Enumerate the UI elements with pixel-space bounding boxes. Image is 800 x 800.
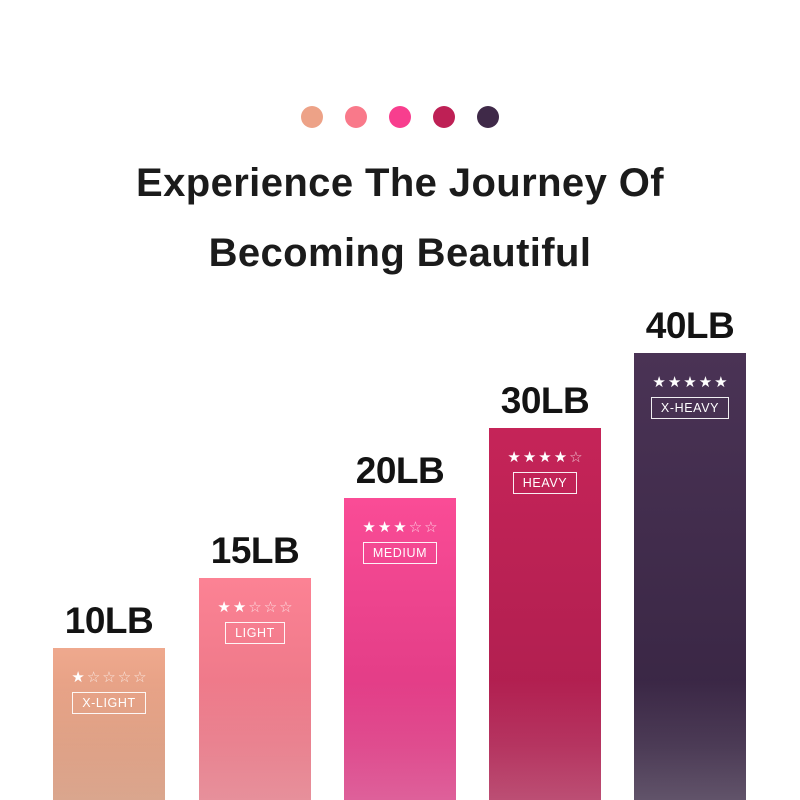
- star-empty-icon: ☆: [279, 600, 292, 615]
- star-empty-icon: ☆: [248, 600, 261, 615]
- bar-badge: ★★★★☆HEAVY: [489, 450, 601, 494]
- bar-badge: ★★☆☆☆LIGHT: [199, 600, 311, 644]
- star-filled-icon: ★: [233, 600, 246, 615]
- star-filled-icon: ★: [652, 375, 665, 390]
- star-rating: ★★★★★: [652, 375, 727, 390]
- star-rating: ★☆☆☆☆: [71, 670, 146, 685]
- star-filled-icon: ★: [714, 375, 727, 390]
- star-rating: ★★☆☆☆: [217, 600, 292, 615]
- star-empty-icon: ☆: [409, 520, 422, 535]
- star-filled-icon: ★: [523, 450, 536, 465]
- bar-rect[interactable]: ★★★★★X-HEAVY: [634, 353, 746, 800]
- bar-level-label: X-HEAVY: [651, 397, 729, 419]
- bar-rect[interactable]: ★★★★☆HEAVY: [489, 428, 601, 800]
- bar-badge: ★★★★★X-HEAVY: [634, 375, 746, 419]
- bar-weight-label: 10LB: [65, 600, 153, 642]
- bar-weight-label: 40LB: [646, 305, 734, 347]
- bar-level-label: MEDIUM: [363, 542, 437, 564]
- star-filled-icon: ★: [538, 450, 551, 465]
- star-empty-icon: ☆: [264, 600, 277, 615]
- bar-rect[interactable]: ★★☆☆☆LIGHT: [199, 578, 311, 800]
- star-empty-icon: ☆: [87, 670, 100, 685]
- bar-group[interactable]: 30LB★★★★☆HEAVY: [489, 428, 601, 800]
- bar-badge: ★★★☆☆MEDIUM: [344, 520, 456, 564]
- star-filled-icon: ★: [217, 600, 230, 615]
- star-filled-icon: ★: [378, 520, 391, 535]
- star-filled-icon: ★: [699, 375, 712, 390]
- star-filled-icon: ★: [507, 450, 520, 465]
- star-empty-icon: ☆: [118, 670, 131, 685]
- star-filled-icon: ★: [393, 520, 406, 535]
- bar-group[interactable]: 20LB★★★☆☆MEDIUM: [344, 498, 456, 800]
- star-filled-icon: ★: [668, 375, 681, 390]
- star-empty-icon: ☆: [102, 670, 115, 685]
- bar-weight-label: 15LB: [211, 530, 299, 572]
- bar-level-label: X-LIGHT: [72, 692, 146, 714]
- bar-level-label: LIGHT: [225, 622, 285, 644]
- star-filled-icon: ★: [362, 520, 375, 535]
- star-rating: ★★★☆☆: [362, 520, 437, 535]
- star-empty-icon: ☆: [133, 670, 146, 685]
- bar-badge: ★☆☆☆☆X-LIGHT: [53, 670, 165, 714]
- bar-weight-label: 20LB: [356, 450, 444, 492]
- promo-banner: Experience The Journey Of Becoming Beaut…: [0, 0, 800, 800]
- star-filled-icon: ★: [554, 450, 567, 465]
- bar-group[interactable]: 15LB★★☆☆☆LIGHT: [199, 578, 311, 800]
- star-filled-icon: ★: [71, 670, 84, 685]
- bar-group[interactable]: 40LB★★★★★X-HEAVY: [634, 353, 746, 800]
- star-filled-icon: ★: [683, 375, 696, 390]
- star-rating: ★★★★☆: [507, 450, 582, 465]
- bar-group[interactable]: 10LB★☆☆☆☆X-LIGHT: [53, 648, 165, 800]
- bar-rect[interactable]: ★★★☆☆MEDIUM: [344, 498, 456, 800]
- star-empty-icon: ☆: [569, 450, 582, 465]
- bar-level-label: HEAVY: [513, 472, 577, 494]
- resistance-level-bar-chart: 10LB★☆☆☆☆X-LIGHT15LB★★☆☆☆LIGHT20LB★★★☆☆M…: [0, 0, 800, 800]
- star-empty-icon: ☆: [424, 520, 437, 535]
- bar-rect[interactable]: ★☆☆☆☆X-LIGHT: [53, 648, 165, 800]
- bar-weight-label: 30LB: [501, 380, 589, 422]
